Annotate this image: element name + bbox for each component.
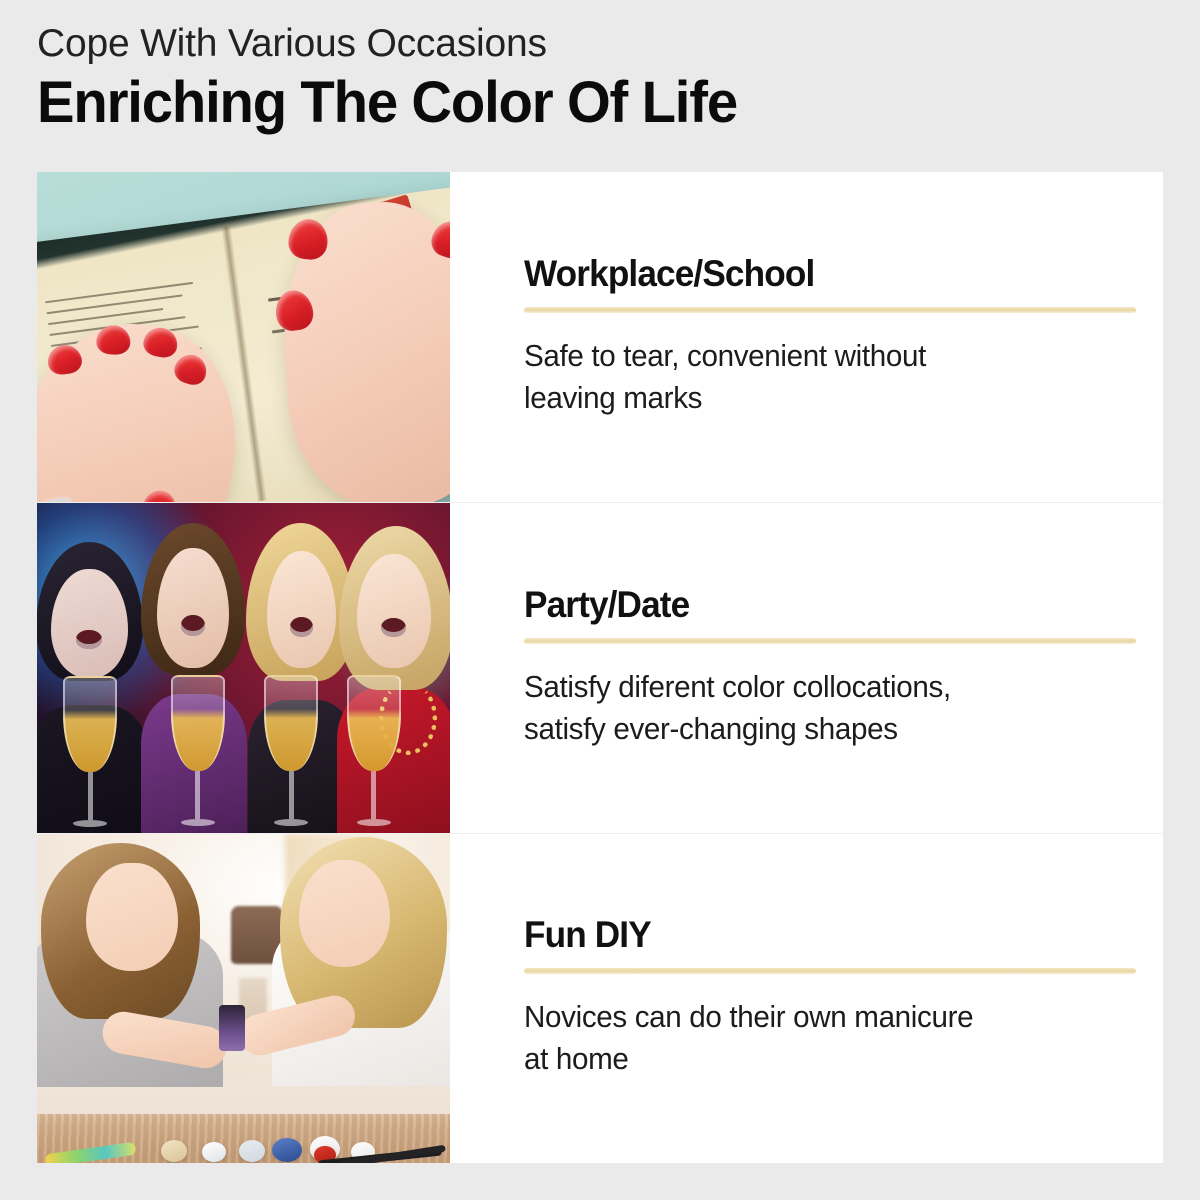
feature-row: Party/Date Satisfy diferent color colloc… xyxy=(37,502,1163,832)
supply-jar xyxy=(161,1140,187,1162)
page-header: Cope With Various Occasions Enriching Th… xyxy=(37,22,1137,136)
supply-jar xyxy=(202,1142,226,1162)
flute-foot xyxy=(274,819,308,826)
champagne-flute xyxy=(347,675,401,826)
guest-face xyxy=(357,554,431,668)
open-mouth xyxy=(381,618,406,637)
diy-manicure-photo xyxy=(37,834,450,1163)
guest-face xyxy=(51,569,128,678)
flute-bowl xyxy=(347,675,401,771)
feature-description: Novices can do their own manicure at hom… xyxy=(524,996,1067,1080)
face xyxy=(299,860,390,967)
champagne-flute xyxy=(264,675,318,826)
flute-bowl xyxy=(63,676,117,772)
feature-copy: Workplace/School Safe to tear, convenien… xyxy=(450,172,1163,502)
champagne-flute xyxy=(63,676,117,827)
feature-title: Fun DIY xyxy=(524,916,1106,955)
title-divider xyxy=(524,638,1136,644)
nail-polish xyxy=(140,486,182,503)
rainbow-nail-strip xyxy=(45,1142,137,1163)
feature-row: Fun DIY Novices can do their own manicur… xyxy=(37,833,1163,1163)
feature-copy: Fun DIY Novices can do their own manicur… xyxy=(450,834,1163,1163)
title-divider xyxy=(524,968,1136,974)
guest-face xyxy=(267,551,336,668)
flute-stem xyxy=(195,771,200,819)
open-mouth xyxy=(290,617,314,637)
flute-foot xyxy=(73,820,107,827)
feature-image-fun-diy xyxy=(37,834,450,1163)
flute-stem xyxy=(371,771,376,819)
nail-polish-bottle xyxy=(219,1005,245,1051)
feature-copy: Party/Date Satisfy diferent color colloc… xyxy=(450,503,1163,832)
party-photo xyxy=(37,503,450,832)
flute-foot xyxy=(181,819,215,826)
flute-bowl xyxy=(171,675,225,771)
open-mouth xyxy=(76,630,102,649)
diy-woman-left xyxy=(37,843,227,1126)
open-mouth xyxy=(181,615,205,635)
guest-face xyxy=(157,548,229,668)
flute-stem xyxy=(289,771,294,819)
party-guest xyxy=(334,516,450,832)
book-nails-photo xyxy=(37,172,450,502)
nail-polish xyxy=(171,351,211,389)
feature-title: Workplace/School xyxy=(524,255,1106,294)
feature-title: Party/Date xyxy=(524,586,1106,625)
supply-jar xyxy=(239,1140,265,1162)
page-title: Enriching The Color Of Life xyxy=(37,71,1104,136)
feature-image-workplace-school xyxy=(37,172,450,502)
title-divider xyxy=(524,307,1136,313)
promo-infographic: Cope With Various Occasions Enriching Th… xyxy=(0,0,1200,1200)
flute-stem xyxy=(88,772,93,820)
wooden-table xyxy=(37,1114,450,1163)
feature-row: Workplace/School Safe to tear, convenien… xyxy=(37,172,1163,502)
feature-card: Workplace/School Safe to tear, convenien… xyxy=(37,172,1163,1163)
flute-foot xyxy=(357,819,391,826)
feature-description: Satisfy diferent color collocations, sat… xyxy=(524,666,1067,750)
finger-ring xyxy=(37,495,73,502)
supply-jar xyxy=(272,1138,302,1162)
face xyxy=(86,863,177,971)
feature-image-party-date xyxy=(37,503,450,832)
party-guest xyxy=(136,516,252,832)
champagne-flute xyxy=(171,675,225,826)
feature-description: Safe to tear, convenient without leaving… xyxy=(524,335,1067,419)
nail-polish xyxy=(97,325,132,356)
diy-woman-right xyxy=(268,837,450,1127)
flute-bowl xyxy=(264,675,318,771)
eyebrow-text: Cope With Various Occasions xyxy=(37,22,1137,66)
